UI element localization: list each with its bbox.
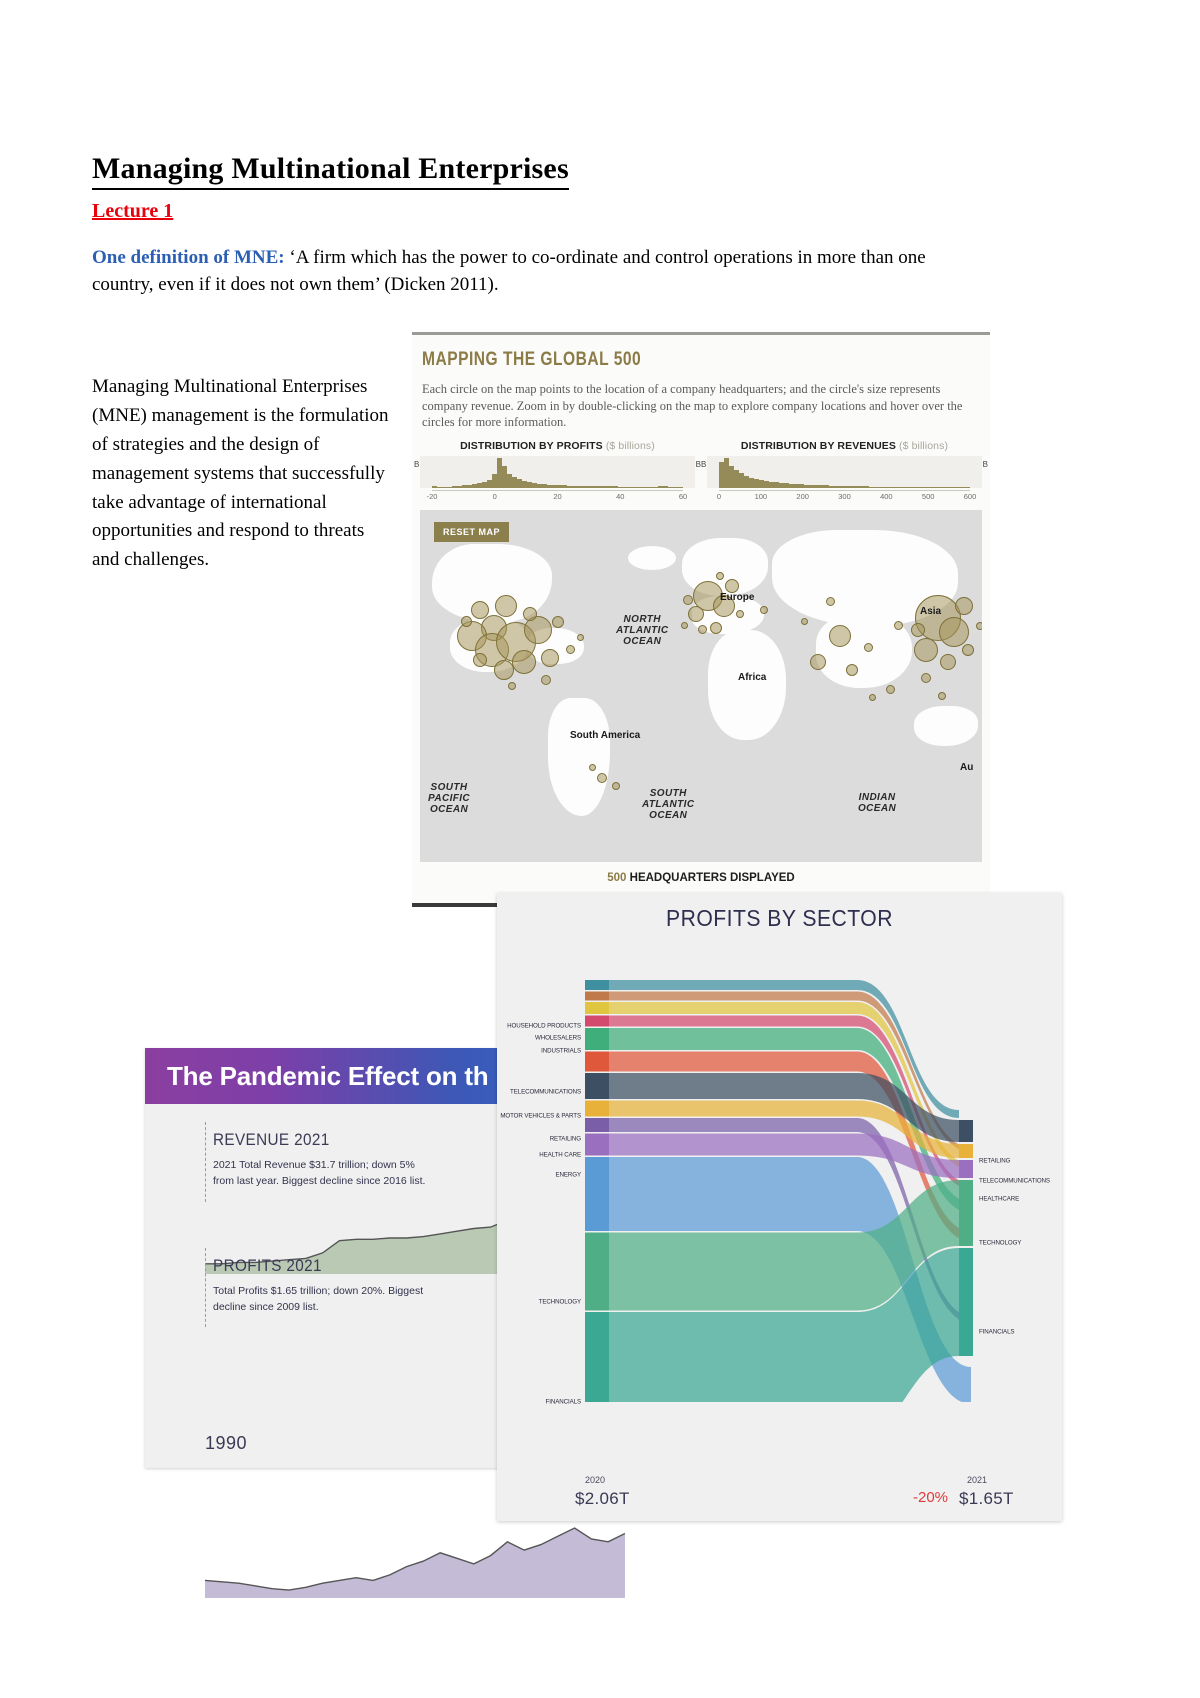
histogram-profits-unit: ($ billions) (606, 440, 655, 452)
sankey-node[interactable] (585, 1002, 609, 1014)
company-bubble[interactable] (955, 597, 973, 615)
map-landmass (548, 698, 610, 816)
company-bubble[interactable] (846, 664, 858, 676)
map-ocean-label: SOUTHPACIFICOCEAN (428, 782, 470, 816)
global-500-title: MAPPING THE GLOBAL 500 (422, 349, 888, 371)
histogram-revenues-edge-left: B (701, 460, 706, 469)
axis-tick-label: 600 (964, 492, 977, 501)
map-landmass (708, 630, 786, 740)
sankey-left-value: $2.06T (575, 1489, 630, 1509)
axis-tick-label: 0 (493, 492, 497, 501)
sankey-node[interactable] (959, 1120, 973, 1142)
sankey-node[interactable] (585, 1052, 609, 1072)
axis-tick-label: 200 (796, 492, 809, 501)
global-500-description: Each circle on the map points to the loc… (422, 381, 980, 431)
company-bubble[interactable] (940, 654, 956, 670)
sankey-node[interactable] (585, 1016, 609, 1027)
map-landmass (914, 706, 978, 746)
page-title: Managing Multinational Enterprises (92, 152, 569, 190)
histogram-revenues-bars (707, 456, 982, 488)
revenue-description: 2021 Total Revenue $31.7 trillion; down … (213, 1157, 428, 1190)
sankey-right-label: FINANCIALS (979, 1329, 1014, 1336)
sankey-node[interactable] (585, 1028, 609, 1050)
company-bubble[interactable] (810, 654, 826, 670)
headquarters-count: 500 (607, 872, 626, 884)
sankey-node[interactable] (585, 1312, 609, 1402)
company-bubble[interactable] (612, 782, 620, 790)
histogram-revenues-edge-right: B (983, 460, 988, 469)
sankey-right-label: RETAILING (979, 1158, 1010, 1165)
sankey-node[interactable] (585, 1118, 609, 1132)
histogram-profits-axis: -200204060 (432, 490, 683, 502)
sankey-node[interactable] (585, 1134, 609, 1156)
company-bubble[interactable] (911, 623, 925, 637)
world-map[interactable]: RESET MAP EuropeAsiaAfricaSouth AmericaA… (420, 510, 982, 862)
company-bubble[interactable] (976, 622, 982, 630)
company-bubble[interactable] (494, 660, 514, 680)
company-bubble[interactable] (826, 597, 835, 606)
company-bubble[interactable] (508, 682, 516, 690)
company-bubble[interactable] (552, 616, 564, 628)
company-bubble[interactable] (473, 653, 487, 667)
histogram-revenues: DISTRIBUTION BY REVENUES ($ billions) B … (707, 440, 982, 502)
map-region-label: Au (960, 762, 973, 773)
profits-description: Total Profits $1.65 trillion; down 20%. … (213, 1283, 428, 1316)
histogram-revenues-axis: 0100200300400500600 (719, 490, 970, 502)
company-bubble[interactable] (698, 625, 707, 634)
company-bubble[interactable] (725, 579, 739, 593)
axis-tick-label: 300 (838, 492, 851, 501)
histogram-profits-title: DISTRIBUTION BY PROFITS ($ billions) (420, 440, 695, 452)
headquarters-caption: 500 HEADQUARTERS DISPLAYED (412, 872, 990, 884)
company-bubble[interactable] (760, 606, 768, 614)
company-bubble[interactable] (914, 638, 938, 662)
company-bubble[interactable] (886, 685, 895, 694)
sankey-node[interactable] (585, 1233, 609, 1311)
sankey-right-value: $1.65T (959, 1489, 1014, 1509)
sankey-node[interactable] (585, 1157, 609, 1231)
histogram-profits: DISTRIBUTION BY PROFITS ($ billions) B B… (420, 440, 695, 502)
histogram-row: DISTRIBUTION BY PROFITS ($ billions) B B… (420, 440, 982, 502)
headquarters-caption-text: HEADQUARTERS DISPLAYED (626, 872, 794, 884)
sankey-node[interactable] (585, 992, 609, 1001)
company-bubble[interactable] (938, 692, 946, 700)
axis-tick-label: 500 (922, 492, 935, 501)
company-bubble[interactable] (869, 694, 876, 701)
company-bubble[interactable] (589, 764, 596, 771)
sankey-left-label: MOTOR VEHICLES & PARTS (500, 1113, 581, 1120)
sankey-left-label: WHOLESALERS (535, 1035, 581, 1042)
map-region-label: Africa (738, 672, 766, 683)
company-bubble[interactable] (471, 601, 489, 619)
global-500-figure: MAPPING THE GLOBAL 500 Each circle on th… (412, 332, 990, 907)
sankey-title: PROFITS BY SECTOR (520, 905, 1040, 932)
sankey-left-label: HEALTH CARE (539, 1152, 581, 1159)
histogram-profits-bars (420, 456, 695, 488)
profits-sparkline (205, 1520, 625, 1598)
company-bubble[interactable] (541, 649, 559, 667)
sankey-left-label: ENERGY (555, 1171, 581, 1178)
sankey-right-label: TECHNOLOGY (979, 1240, 1021, 1247)
company-bubble[interactable] (962, 644, 974, 656)
sankey-left-label: INDUSTRIALS (541, 1048, 581, 1055)
axis-tick-label: 0 (717, 492, 721, 501)
reset-map-button[interactable]: RESET MAP (434, 522, 509, 542)
company-bubble[interactable] (710, 622, 722, 634)
company-bubble[interactable] (683, 595, 693, 605)
sankey-flows (497, 932, 1062, 1402)
pandemic-year-axis: 1990 (205, 1433, 247, 1454)
histogram-bar (965, 487, 970, 488)
revenue-heading: REVENUE 2021 (213, 1130, 530, 1150)
company-bubble[interactable] (829, 625, 851, 647)
company-bubble[interactable] (495, 595, 517, 617)
histogram-bar (678, 487, 683, 488)
sankey-left-year: 2020 (585, 1475, 605, 1485)
company-bubble[interactable] (541, 675, 551, 685)
profits-axis-dashline (205, 1248, 206, 1328)
company-bubble[interactable] (716, 572, 724, 580)
histogram-profits-label: DISTRIBUTION BY PROFITS (460, 440, 603, 452)
histogram-revenues-title: DISTRIBUTION BY REVENUES ($ billions) (707, 440, 982, 452)
company-bubble[interactable] (864, 643, 873, 652)
sankey-right-label: HEALTHCARE (979, 1196, 1019, 1203)
sankey-node[interactable] (585, 980, 609, 990)
profits-by-sector-card: PROFITS BY SECTOR HOUSEHOLD PRODUCTSWHOL… (497, 893, 1062, 1521)
company-bubble[interactable] (801, 618, 808, 625)
sankey-node[interactable] (585, 1101, 609, 1117)
sankey-node[interactable] (959, 1144, 973, 1158)
map-ocean-label: INDIANOCEAN (858, 792, 896, 814)
sankey-left-label: TECHNOLOGY (539, 1298, 581, 1305)
company-bubble[interactable] (461, 616, 472, 627)
sankey-left-label: HOUSEHOLD PRODUCTS (507, 1023, 581, 1030)
company-bubble[interactable] (921, 673, 931, 683)
map-region-label: Europe (720, 592, 754, 603)
company-bubble[interactable] (894, 621, 903, 630)
sankey-left-label: FINANCIALS (546, 1399, 581, 1406)
sankey-left-label: RETAILING (550, 1135, 581, 1142)
axis-tick-label: 60 (679, 492, 687, 501)
company-bubble[interactable] (523, 607, 537, 621)
profits-heading: PROFITS 2021 (213, 1256, 530, 1276)
map-ocean-label: SOUTHATLANTICOCEAN (642, 788, 694, 822)
sankey-node[interactable] (585, 1073, 609, 1099)
axis-tick-label: 40 (616, 492, 624, 501)
definition-lead: One definition of MNE: (92, 247, 285, 268)
pandemic-title: The Pandemic Effect on th (167, 1061, 489, 1092)
company-bubble[interactable] (736, 610, 744, 618)
histogram-profits-edge-left: B (414, 460, 419, 469)
sankey-node[interactable] (959, 1248, 973, 1356)
sankey-right-label: TELECOMMUNICATIONS (979, 1178, 1050, 1185)
axis-tick-label: 20 (553, 492, 561, 501)
company-bubble[interactable] (597, 773, 607, 783)
sankey-delta: -20% (913, 1489, 948, 1506)
sankey-plot: HOUSEHOLD PRODUCTSWHOLESALERSINDUSTRIALS… (497, 932, 1062, 1472)
histogram-revenues-plot-wrap: B B 0100200300400500600 (707, 456, 982, 502)
company-bubble[interactable] (688, 606, 704, 622)
histogram-revenues-label: DISTRIBUTION BY REVENUES (741, 440, 896, 452)
sankey-node[interactable] (959, 1160, 973, 1178)
axis-tick-label: 100 (755, 492, 768, 501)
axis-tick-label: 400 (880, 492, 893, 501)
company-bubble[interactable] (512, 650, 536, 674)
map-region-label: Asia (920, 606, 941, 617)
company-bubble[interactable] (939, 617, 969, 647)
map-landmass (628, 546, 676, 570)
sankey-right-year: 2021 (967, 1475, 987, 1485)
axis-tick-label: -20 (427, 492, 438, 501)
sankey-left-label: TELECOMMUNICATIONS (510, 1088, 581, 1095)
map-region-label: South America (570, 730, 640, 741)
histogram-revenues-unit: ($ billions) (899, 440, 948, 452)
company-bubble[interactable] (681, 622, 688, 629)
lecture-heading: Lecture 1 (92, 200, 173, 223)
sankey-node[interactable] (959, 1180, 973, 1246)
map-ocean-label: NORTHATLANTICOCEAN (616, 614, 668, 648)
company-bubble[interactable] (566, 645, 575, 654)
body-paragraph: Managing Multinational Enterprises (MNE)… (92, 373, 392, 575)
mne-definition: One definition of MNE: ‘A firm which has… (92, 245, 952, 299)
company-bubble[interactable] (577, 634, 584, 641)
histogram-profits-plot-wrap: B B -200204060 (420, 456, 695, 502)
